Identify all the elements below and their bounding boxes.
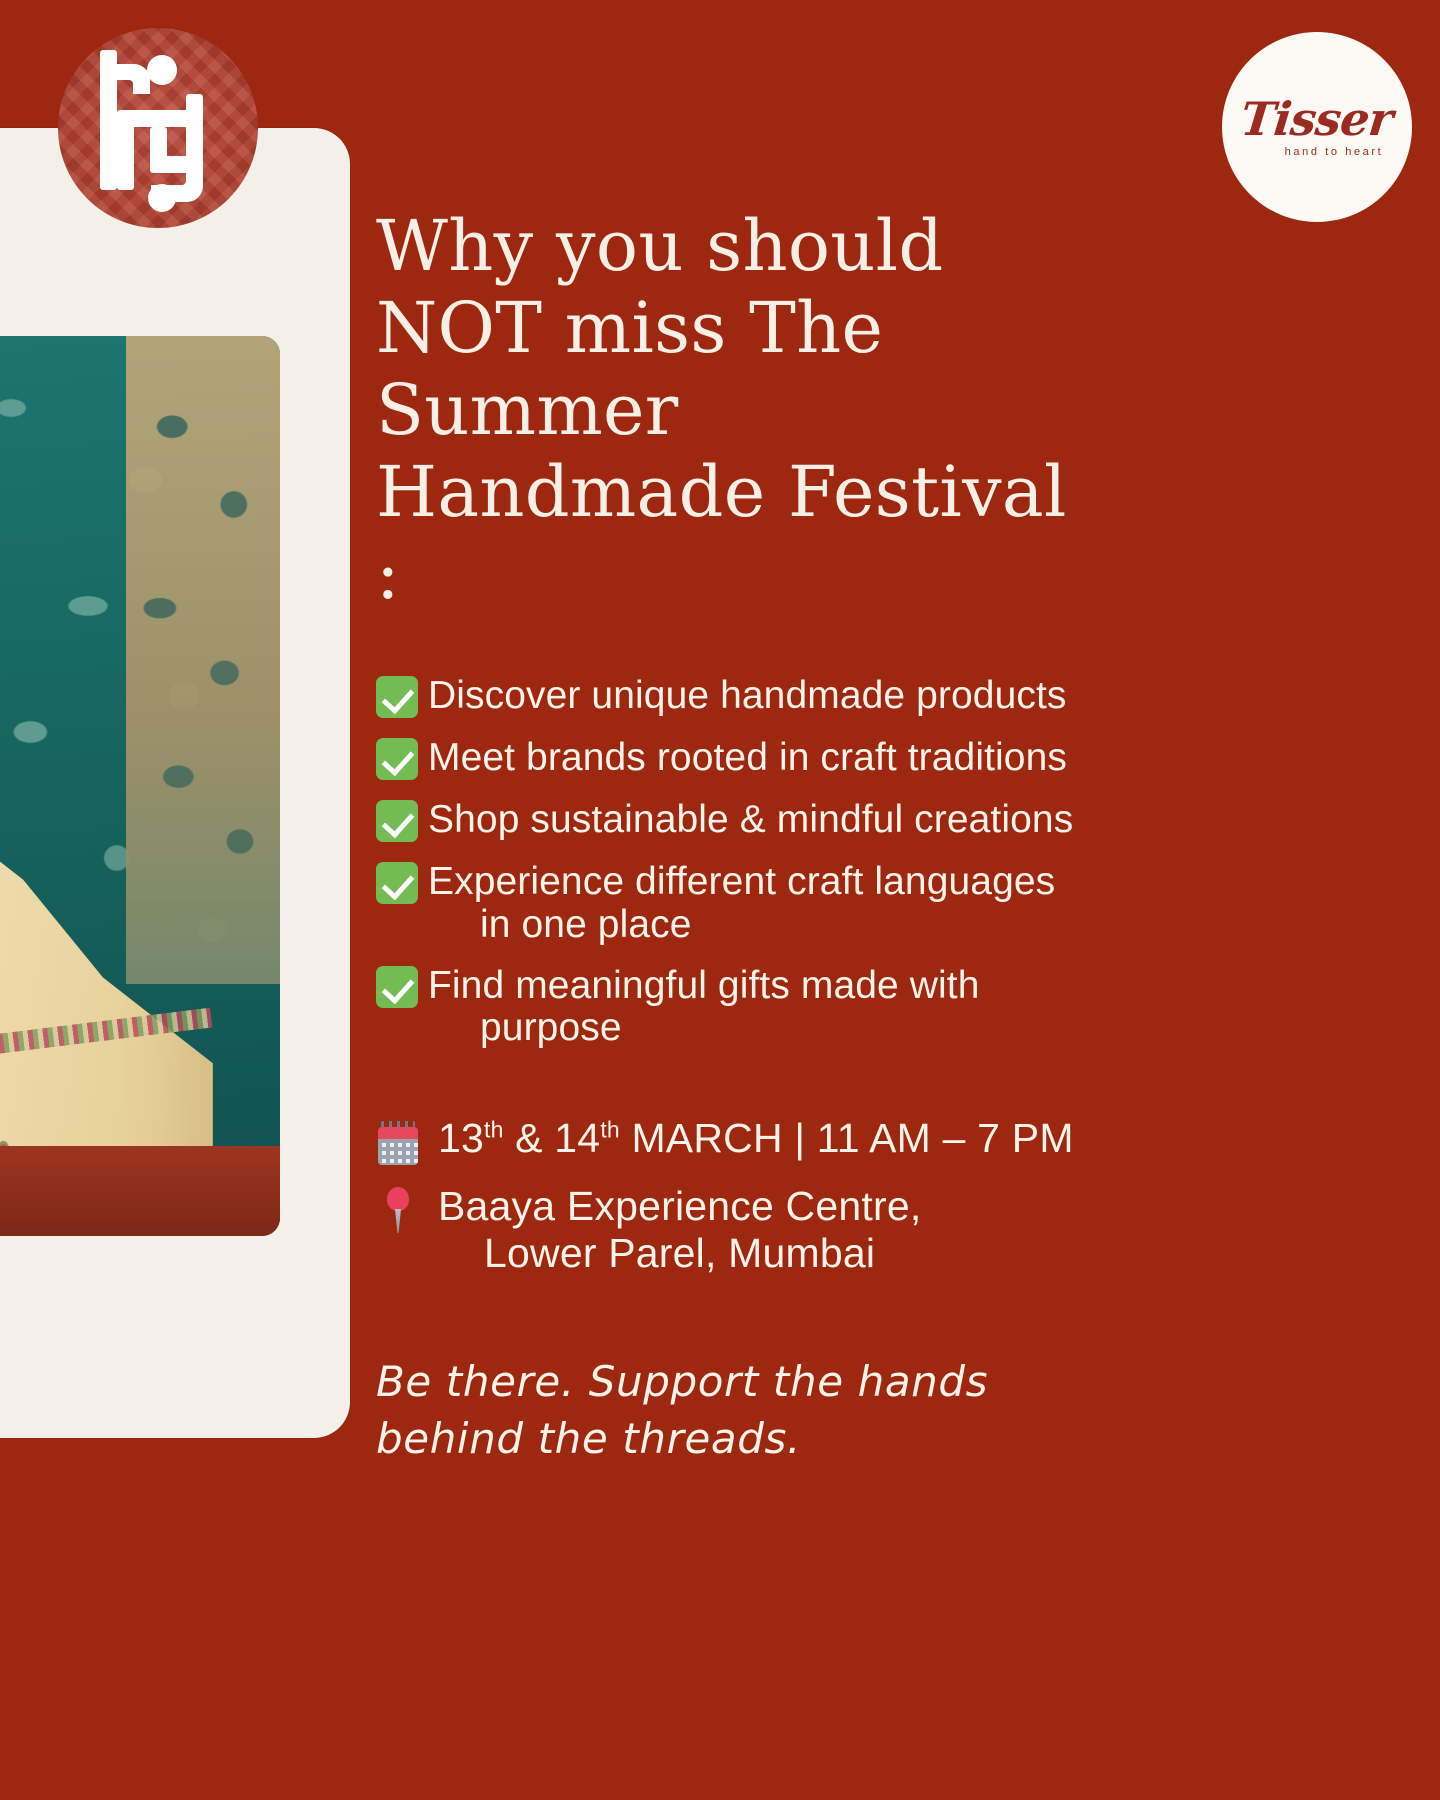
bullet-text: Experience different craft languages xyxy=(428,860,1055,903)
bullet-text: Meet brands rooted in craft traditions xyxy=(428,736,1067,779)
list-item: Shop sustainable & mindful creations xyxy=(376,797,1386,842)
calendar-icon xyxy=(376,1121,420,1167)
list-item: Find meaningful gifts made with purpose xyxy=(376,963,1386,1049)
check-icon xyxy=(376,862,418,904)
photo-rug xyxy=(0,1146,280,1236)
date-day2: 14 xyxy=(554,1115,600,1161)
event-date-text: 13th & 14th MARCH | 11 AM – 7 PM xyxy=(420,1115,1074,1162)
list-item: Experience different craft languages in … xyxy=(376,859,1386,945)
check-icon xyxy=(376,676,418,718)
tisser-tagline: hand to heart xyxy=(1285,146,1384,158)
poster-content: Why you should NOT miss The Summer Handm… xyxy=(376,206,1386,1467)
date-month-time: MARCH | 11 AM – 7 PM xyxy=(620,1115,1074,1161)
bullet-text: Shop sustainable & mindful creations xyxy=(428,798,1073,841)
check-icon xyxy=(376,966,418,1008)
event-venue-row: Baaya Experience Centre, Lower Parel, Mu… xyxy=(376,1183,1386,1276)
photo-ochre-panel xyxy=(126,336,280,984)
list-item: Discover unique handmade products xyxy=(376,673,1386,718)
tagline-line-2: behind the threads. xyxy=(376,1411,1016,1467)
page-title: Why you should NOT miss The Summer Handm… xyxy=(376,206,1076,615)
event-date-row: 13th & 14th MARCH | 11 AM – 7 PM xyxy=(376,1115,1386,1167)
tisser-wordmark: Tisser xyxy=(1239,96,1395,142)
date-day1: 13 xyxy=(438,1115,484,1161)
baaya-logo xyxy=(58,28,258,228)
date-day1-suffix: th xyxy=(484,1116,504,1142)
tagline-line-1: Be there. Support the hands xyxy=(376,1354,1016,1410)
festival-photo xyxy=(0,336,280,1236)
event-details: 13th & 14th MARCH | 11 AM – 7 PM Baaya E… xyxy=(376,1115,1386,1276)
tisser-logo: Tisser hand to heart xyxy=(1222,32,1412,222)
check-icon xyxy=(376,800,418,842)
location-pin-icon xyxy=(376,1185,420,1235)
benefits-list: Discover unique handmade products Meet b… xyxy=(376,673,1386,1048)
closing-tagline: Be there. Support the hands behind the t… xyxy=(376,1354,1016,1467)
date-separator: & xyxy=(504,1115,555,1161)
baaya-monogram-icon xyxy=(58,28,258,228)
bullet-text-continued: in one place xyxy=(428,904,1055,946)
bullet-text: Discover unique handmade products xyxy=(428,674,1067,717)
date-day2-suffix: th xyxy=(600,1116,620,1142)
venue-line-2: Lower Parel, Mumbai xyxy=(438,1230,921,1277)
venue-line-1: Baaya Experience Centre, xyxy=(438,1183,921,1229)
check-icon xyxy=(376,738,418,780)
list-item: Meet brands rooted in craft traditions xyxy=(376,735,1386,780)
bullet-text-continued: purpose xyxy=(428,1007,980,1049)
bullet-text: Find meaningful gifts made with xyxy=(428,964,980,1007)
